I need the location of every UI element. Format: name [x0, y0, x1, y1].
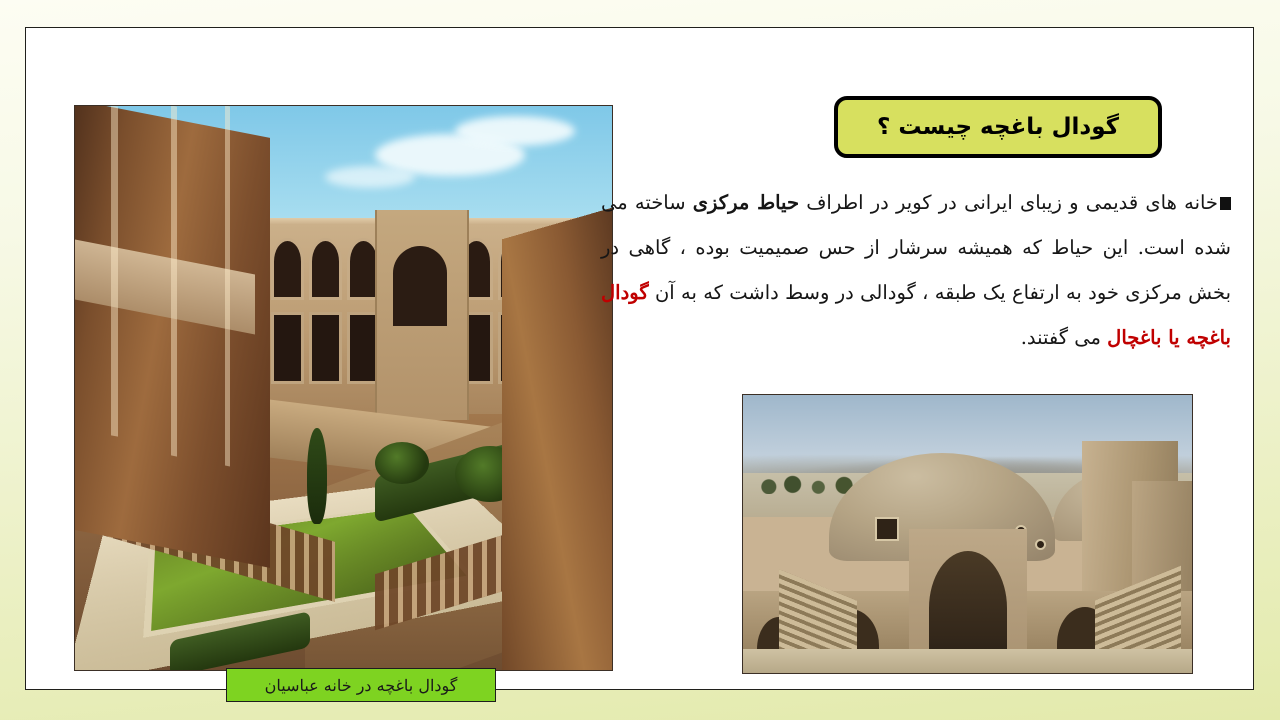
- desert-caravanserai-photo[interactable]: [742, 394, 1193, 674]
- body-paragraph: خانه های قدیمی و زیبای ایرانی در کویر در…: [601, 180, 1231, 360]
- courtyard-house-photo[interactable]: [74, 105, 613, 671]
- wall-highlight: [111, 105, 118, 436]
- right-foreground-wall: [502, 202, 613, 671]
- dome-vent: [1035, 539, 1046, 550]
- photo-caption-text: گودال باغچه در خانه عباسیان: [265, 676, 458, 695]
- bush: [375, 442, 429, 484]
- window-bay: [309, 312, 342, 384]
- cloud: [455, 116, 575, 146]
- courtyard-floor: [743, 649, 1192, 673]
- cloud: [325, 166, 415, 188]
- slide-frame: گودال باغچه در خانه عباسیان گودال باغچه …: [25, 27, 1254, 690]
- body-segment-1: خانه های قدیمی و زیبای ایرانی در کویر در…: [799, 191, 1218, 214]
- body-segment-5: می گفتند.: [1021, 326, 1107, 349]
- dome-window: [875, 517, 899, 541]
- window-bay: [271, 312, 304, 384]
- slide-title-box: گودال باغچه چیست ؟: [834, 96, 1162, 158]
- arch-bay: [309, 238, 342, 300]
- caravanserai-illustration: [743, 395, 1192, 673]
- cypress-tree: [307, 428, 327, 524]
- wall-highlight: [225, 106, 230, 467]
- courtyard-house-illustration: [75, 106, 612, 670]
- body-segment-2: حیاط مرکزی: [693, 191, 799, 214]
- wall-highlight: [171, 105, 177, 456]
- square-bullet-icon: [1220, 197, 1231, 210]
- photo-caption-box: گودال باغچه در خانه عباسیان: [226, 668, 496, 702]
- central-pavilion-arch: [393, 246, 447, 326]
- slide-title-text: گودال باغچه چیست ؟: [877, 114, 1119, 140]
- arch-bay: [271, 238, 304, 300]
